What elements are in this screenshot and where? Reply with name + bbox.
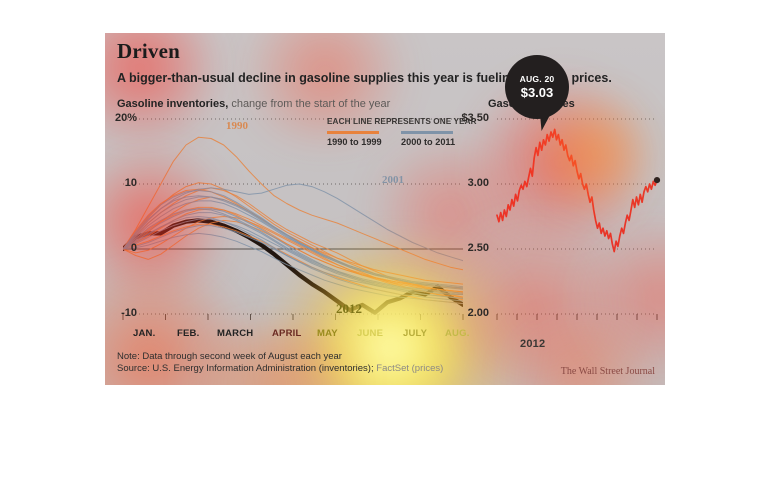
source-muted: FactSet (prices) [376,363,443,374]
legend-swatch-1990s [327,131,379,134]
legend-label-1990s: 1990 to 1999 [327,137,391,147]
xtick-june: JUNE [357,328,383,339]
screenshot-root: Driven A bigger-than-usual decline in ga… [0,0,770,480]
left-chart-lines [123,137,463,313]
footnotes: Note: Data through second week of August… [117,351,443,375]
left-ytick-10: 10 [105,177,137,189]
legend-label-2000s: 2000 to 2011 [401,137,465,147]
left-ytick-20: 20% [105,112,137,124]
note-line: Note: Data through second week of August… [117,351,443,363]
legend-swatch-2000s [401,131,453,134]
graphic-title: Driven [117,39,180,64]
xtick-jan: JAN. [133,328,155,339]
annotation-1990: 1990 [226,120,248,132]
right-ytick-350: $3.50 [441,112,489,124]
right-ytick-250: 2.50 [441,242,489,254]
callout-price: $3.03 [521,85,554,100]
xtick-feb: FEB. [177,328,199,339]
xtick-may: MAY [317,328,338,339]
right-ytick-200: 2.00 [441,307,489,319]
right-ytick-300: 3.00 [441,177,489,189]
axis-ticks [123,314,657,320]
callout-date: AUG. 20 [520,74,555,84]
left-ytick-0: 0 [105,242,137,254]
annotation-2012: 2012 [336,301,362,317]
source-line: Source: U.S. Energy Information Administ… [117,363,443,375]
right-chart-line [497,129,660,251]
price-callout: AUG. 20 $3.03 [505,55,569,119]
xtick-july: JULY [403,328,427,339]
xtick-april: APRIL [272,328,302,339]
xtick-march: MARCH [217,328,253,339]
xtick-aug: AUG. [445,328,470,339]
left-chart-heading-bold: Gasoline inventories, [117,98,228,110]
right-chart-gridlines [497,119,657,314]
wsj-graphic-panel: Driven A bigger-than-usual decline in ga… [105,33,665,385]
left-ytick-neg10: -10 [105,307,137,319]
right-xtick-2012: 2012 [520,338,545,350]
left-chart-heading-light: change from the start of the year [228,98,390,110]
wsj-credit: The Wall Street Journal [561,366,655,377]
source-main: Source: U.S. Energy Information Administ… [117,363,376,374]
left-chart-heading: Gasoline inventories, change from the st… [117,98,390,110]
annotation-2001: 2001 [382,174,404,186]
